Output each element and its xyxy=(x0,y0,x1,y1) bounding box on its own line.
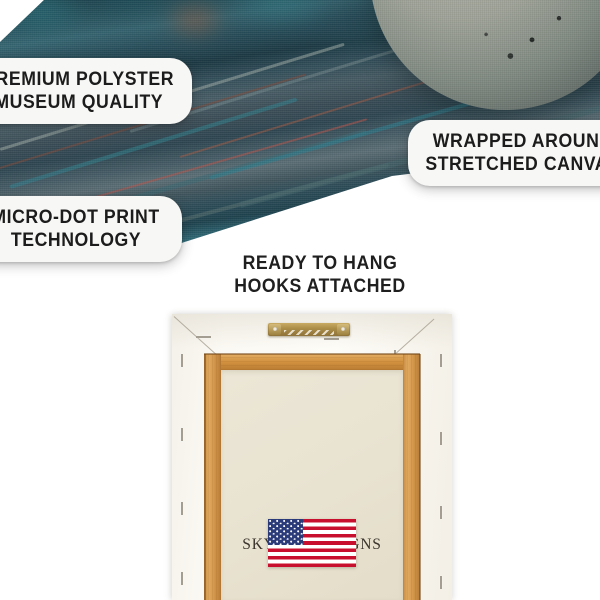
flag-canton xyxy=(268,519,303,545)
staple xyxy=(196,336,211,338)
united-states-flag-icon xyxy=(268,519,356,567)
badge-line-2: TECHNOLOGY xyxy=(11,229,141,252)
staple xyxy=(440,576,442,589)
badge-line-1: MICRO-DOT PRINT xyxy=(0,206,160,229)
badge-line-2: STRETCHED CANVAS xyxy=(425,153,600,176)
caption-ready-to-hang: READY TO HANG HOOKS ATTACHED xyxy=(220,252,420,298)
canvas-back-panel: SKYPOP DESIGNS xyxy=(172,314,452,600)
staple xyxy=(440,354,442,367)
sawtooth-hanger-icon xyxy=(268,323,350,336)
badge-line-2: MUSEUM QUALITY xyxy=(0,91,163,114)
badge-premium-polyster-museum-quality[interactable]: PREMIUM POLYSTER MUSEUM QUALITY xyxy=(0,58,192,124)
flag-stars xyxy=(268,519,303,545)
staple xyxy=(181,354,183,367)
bar-right-edge xyxy=(419,354,421,600)
staple xyxy=(181,502,183,515)
badge-micro-dot-print-technology[interactable]: MICRO-DOT PRINT TECHNOLOGY xyxy=(0,196,182,262)
product-infographic: PREMIUM POLYSTER MUSEUM QUALITY WRAPPED … xyxy=(0,0,600,600)
badge-line-1: WRAPPED AROUND xyxy=(433,130,600,153)
stretcher-bar-top xyxy=(204,354,420,370)
stretcher-bar-right xyxy=(403,354,420,600)
caption-line-2: HOOKS ATTACHED xyxy=(227,275,413,298)
staple xyxy=(181,428,183,441)
badge-line-1: PREMIUM POLYSTER xyxy=(0,68,174,91)
hanger-screw-hole-right xyxy=(341,327,345,331)
staple xyxy=(324,338,339,340)
staple xyxy=(440,432,442,445)
hanger-teeth xyxy=(284,330,334,335)
caption-line-1: READY TO HANG xyxy=(227,252,413,275)
staple xyxy=(181,572,183,585)
bar-top-edge xyxy=(204,353,420,355)
stretcher-bar-left xyxy=(204,354,221,600)
badge-wrapped-around-stretched-canvas[interactable]: WRAPPED AROUND STRETCHED CANVAS xyxy=(408,120,600,186)
bar-left-edge xyxy=(204,354,206,600)
staple xyxy=(440,506,442,519)
hanger-screw-hole-left xyxy=(273,327,277,331)
